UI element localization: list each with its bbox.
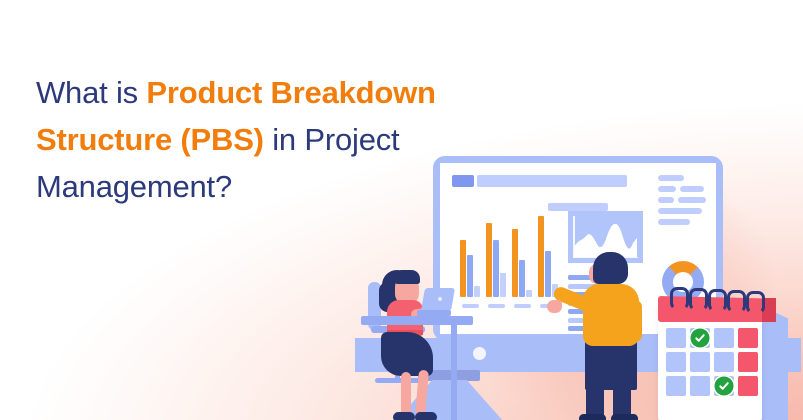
- calendar-cell-checked: [714, 376, 734, 396]
- list-item: [658, 219, 714, 225]
- desk-leg: [451, 325, 457, 420]
- laptop-base: [417, 310, 451, 316]
- check-icon: [691, 329, 710, 348]
- shoe: [415, 412, 437, 420]
- hand-pointing: [547, 300, 562, 313]
- illustration: [355, 140, 803, 420]
- list-segment: [658, 186, 676, 192]
- calendar-grid: [666, 328, 758, 396]
- calendar-ring-icon: [727, 290, 746, 313]
- calendar-cell-checked: [690, 328, 710, 348]
- calendar-cell: [714, 328, 734, 348]
- bar-group: [512, 205, 533, 297]
- list-segment: [658, 197, 674, 203]
- bar-series-b: [545, 251, 551, 297]
- hair: [593, 252, 628, 284]
- list-segment: [678, 197, 706, 203]
- calendar-cell: [666, 328, 686, 348]
- monitor-power-indicator: [473, 347, 486, 360]
- shoe: [611, 414, 638, 420]
- bar-series-a: [460, 240, 466, 297]
- list-item: [658, 197, 714, 203]
- calendar-cell-highlight: [738, 376, 758, 396]
- list-segment: [658, 208, 702, 214]
- shoe: [393, 412, 415, 420]
- list-segment: [658, 175, 684, 181]
- bar-group: [460, 205, 481, 297]
- calendar-cell: [690, 376, 710, 396]
- dashboard-side-list: [658, 175, 714, 230]
- calendar-ring-icon: [746, 291, 765, 314]
- bar-series-a: [486, 223, 492, 297]
- list-segment: [680, 186, 704, 192]
- calendar-ring-icon: [708, 289, 727, 312]
- area-chart-y-axis: [573, 216, 575, 258]
- shoe: [579, 414, 606, 420]
- calendar: [658, 290, 798, 420]
- title-part-1: What is: [36, 75, 146, 110]
- bar-series-a: [512, 229, 518, 297]
- calendar-cell-highlight: [738, 328, 758, 348]
- bar-group: [486, 205, 507, 297]
- bar-series-c: [526, 290, 532, 297]
- list-item: [658, 208, 714, 214]
- calendar-cell: [690, 352, 710, 372]
- calendar-cell: [666, 352, 686, 372]
- x-axis-tick-label: [514, 304, 531, 308]
- list-item: [658, 175, 714, 181]
- leg: [401, 372, 411, 416]
- desk-surface: [361, 316, 473, 325]
- dashboard-header-bar: [477, 175, 627, 187]
- hair-fringe: [393, 270, 420, 284]
- bar-series-b: [467, 255, 473, 297]
- bar-group: [538, 205, 559, 297]
- list-segment: [658, 219, 690, 225]
- calendar-cell: [714, 352, 734, 372]
- bar-series-c: [474, 286, 480, 297]
- chair-base: [375, 378, 421, 383]
- calendar-ring-icon: [689, 288, 708, 311]
- bar-series-b: [493, 240, 499, 297]
- laptop-logo: [438, 297, 442, 301]
- dashboard-logo-badge: [452, 175, 474, 187]
- calendar-cell-highlight: [738, 352, 758, 372]
- illustration-banner: What is Product Breakdown Structure (PBS…: [0, 0, 803, 420]
- x-axis-tick-label: [488, 304, 505, 308]
- calendar-cell: [666, 376, 686, 396]
- bar-series-a: [538, 216, 544, 297]
- bar-chart: [457, 205, 562, 310]
- list-item: [658, 186, 714, 192]
- bar-series-b: [519, 260, 525, 297]
- check-icon: [715, 377, 734, 396]
- bar-series-c: [500, 273, 506, 297]
- x-axis-tick-label: [462, 304, 479, 308]
- calendar-ring-icon: [670, 287, 689, 310]
